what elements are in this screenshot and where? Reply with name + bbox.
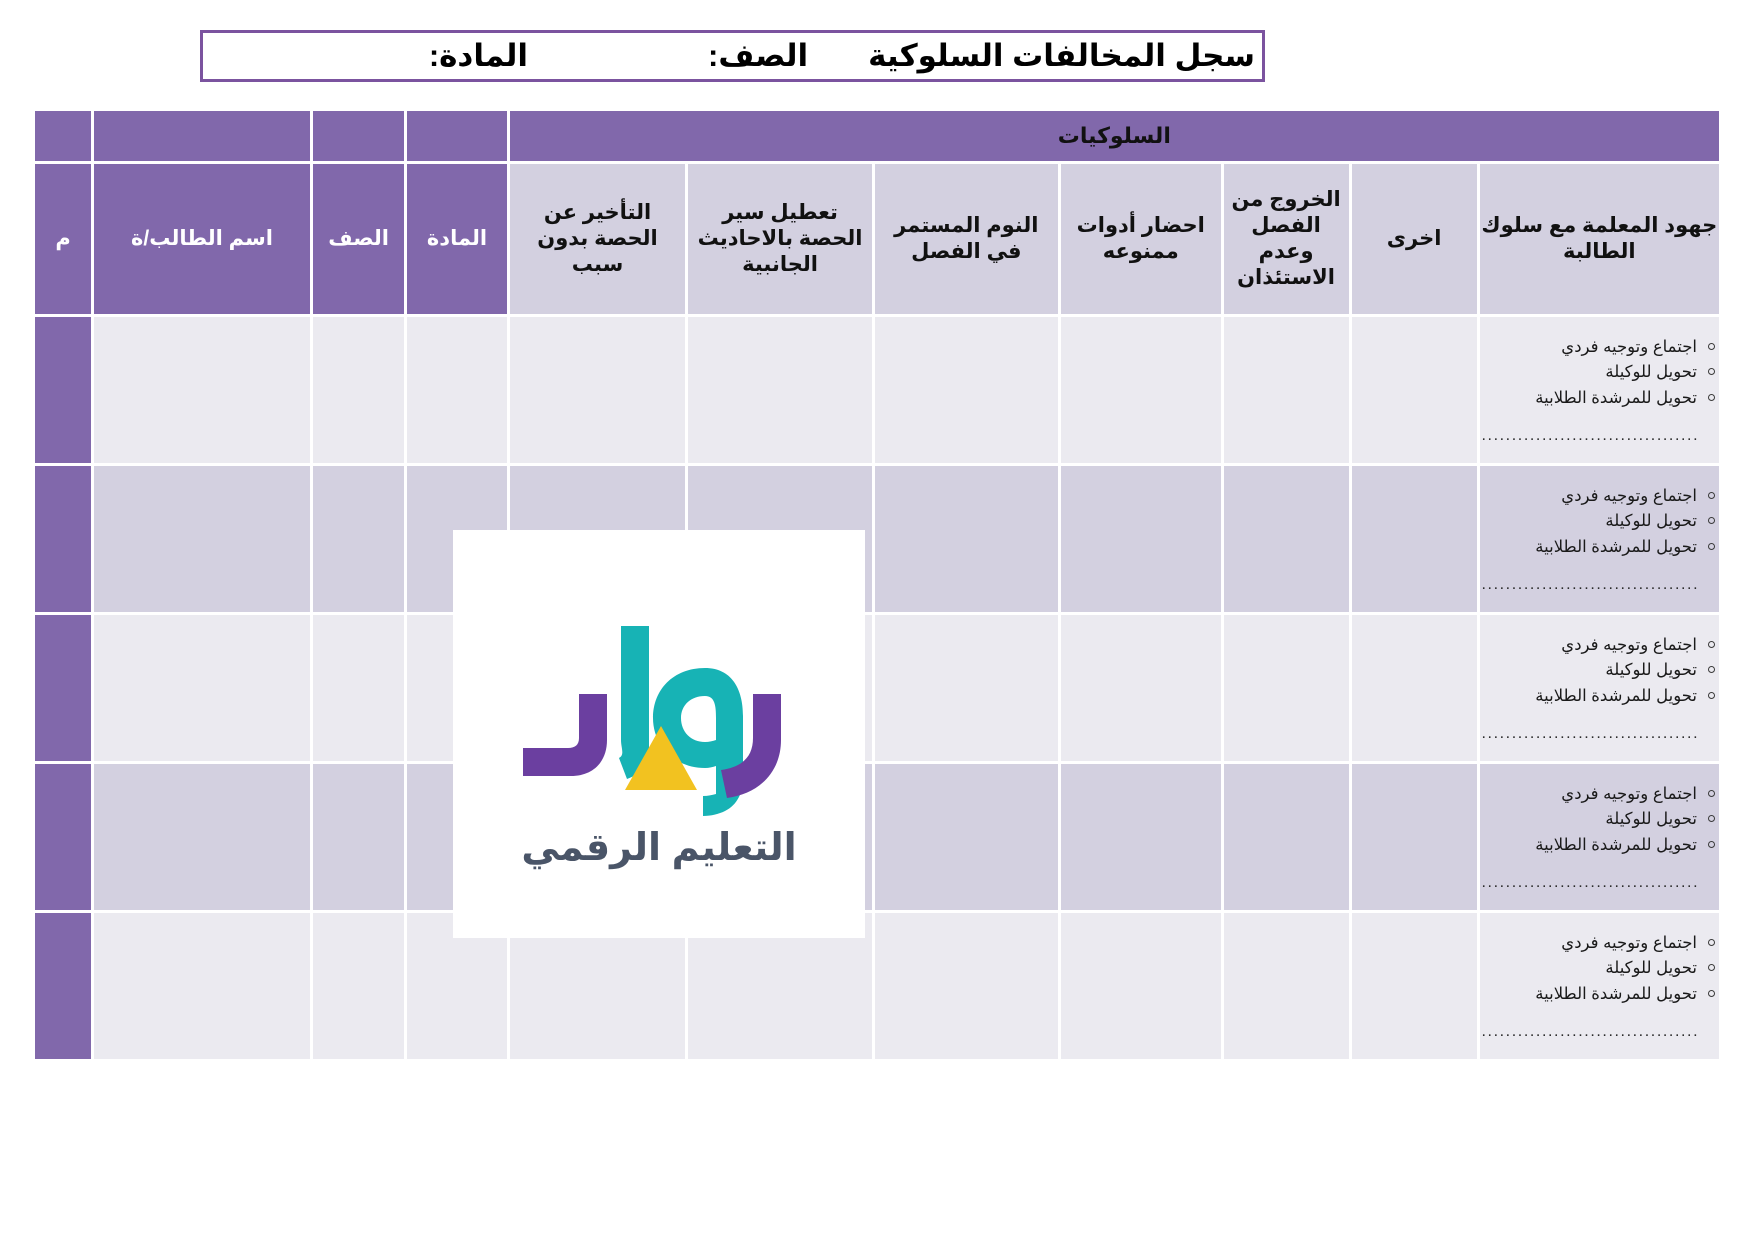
class-cell[interactable] — [313, 615, 405, 761]
student-name-cell[interactable] — [94, 615, 310, 761]
leaving-class-cell[interactable] — [1224, 317, 1349, 463]
teacher-efforts-cell[interactable]: اجتماع وتوجيه فرديتحويل للوكيلةتحويل للم… — [1480, 913, 1719, 1059]
col-header-other: اخرى — [1352, 164, 1477, 314]
col-header-leaving-class: الخروج من الفصل وعدم الاستئذان — [1224, 164, 1349, 314]
col-header-student-name: اسم الطالب/ة — [94, 164, 310, 314]
class-cell[interactable] — [313, 317, 405, 463]
effort-option-item[interactable]: تحويل للوكيلة — [1480, 509, 1719, 534]
rowad-logo-watermark: التعليم الرقمي — [453, 530, 865, 938]
effort-blank-line[interactable]: .................................... — [1480, 427, 1719, 445]
effort-option-item[interactable]: تحويل للوكيلة — [1480, 360, 1719, 385]
group-header-spacer-class — [313, 111, 405, 161]
effort-option-item[interactable]: اجتماع وتوجيه فردي — [1480, 484, 1719, 509]
row-number-cell[interactable] — [35, 764, 91, 910]
effort-option-item[interactable]: اجتماع وتوجيه فردي — [1480, 633, 1719, 658]
subject-cell[interactable] — [407, 317, 506, 463]
effort-option-item[interactable]: تحويل للمرشدة الطلابية — [1480, 535, 1719, 560]
table-header-row: جهود المعلمة مع سلوك الطالبة اخرى الخروج… — [35, 164, 1719, 314]
table-row: اجتماع وتوجيه فرديتحويل للوكيلةتحويل للم… — [35, 317, 1719, 463]
forbidden-tools-cell[interactable] — [1061, 764, 1221, 910]
effort-blank-line[interactable]: .................................... — [1480, 1023, 1719, 1041]
rowad-wordmark-icon — [509, 598, 809, 818]
sleeping-cell[interactable] — [875, 764, 1058, 910]
effort-option-item[interactable]: تحويل للمرشدة الطلابية — [1480, 684, 1719, 709]
row-number-cell[interactable] — [35, 913, 91, 1059]
row-number-cell[interactable] — [35, 615, 91, 761]
effort-option-list: اجتماع وتوجيه فرديتحويل للوكيلةتحويل للم… — [1480, 931, 1719, 1006]
effort-option-item[interactable]: تحويل للمرشدة الطلابية — [1480, 982, 1719, 1007]
forbidden-tools-cell[interactable] — [1061, 466, 1221, 612]
leaving-class-cell[interactable] — [1224, 466, 1349, 612]
col-header-disrupting-lesson: تعطيل سير الحصة بالاحاديث الجانبية — [688, 164, 871, 314]
col-header-lateness: التأخير عن الحصة بدون سبب — [510, 164, 686, 314]
group-header-spacer-name — [94, 111, 310, 161]
class-cell[interactable] — [313, 913, 405, 1059]
disrupting-cell[interactable] — [688, 317, 871, 463]
row-number-cell[interactable] — [35, 466, 91, 612]
group-header-spacer-subject — [407, 111, 506, 161]
sleeping-cell[interactable] — [875, 317, 1058, 463]
leaving-class-cell[interactable] — [1224, 615, 1349, 761]
class-field-label: الصف: — [528, 38, 808, 74]
table-group-header-row: السلوكيات — [35, 111, 1719, 161]
effort-option-item[interactable]: تحويل للوكيلة — [1480, 807, 1719, 832]
teacher-efforts-cell[interactable]: اجتماع وتوجيه فرديتحويل للوكيلةتحويل للم… — [1480, 317, 1719, 463]
document-title-bar: سجل المخالفات السلوكية الصف: المادة: — [480, 30, 1265, 82]
student-name-cell[interactable] — [94, 764, 310, 910]
table-row: اجتماع وتوجيه فرديتحويل للوكيلةتحويل للم… — [35, 764, 1719, 910]
logo-subtitle: التعليم الرقمي — [453, 825, 865, 870]
page-title: سجل المخالفات السلوكية — [808, 38, 1255, 74]
col-header-teacher-efforts: جهود المعلمة مع سلوك الطالبة — [1480, 164, 1719, 314]
student-name-cell[interactable] — [94, 466, 310, 612]
group-header-behaviors: السلوكيات — [510, 111, 1719, 161]
effort-option-item[interactable]: تحويل للمرشدة الطلابية — [1480, 386, 1719, 411]
title-row: سجل المخالفات السلوكية الصف: المادة: — [429, 32, 1255, 80]
row-number-cell[interactable] — [35, 317, 91, 463]
lateness-cell[interactable] — [510, 317, 686, 463]
effort-option-list: اجتماع وتوجيه فرديتحويل للوكيلةتحويل للم… — [1480, 484, 1719, 559]
effort-blank-line[interactable]: .................................... — [1480, 874, 1719, 892]
col-header-number: م — [35, 164, 91, 314]
effort-option-item[interactable]: تحويل للوكيلة — [1480, 658, 1719, 683]
effort-option-item[interactable]: اجتماع وتوجيه فردي — [1480, 931, 1719, 956]
leaving-class-cell[interactable] — [1224, 764, 1349, 910]
col-header-sleeping: النوم المستمر في الفصل — [875, 164, 1058, 314]
other-cell[interactable] — [1352, 317, 1477, 463]
student-name-cell[interactable] — [94, 317, 310, 463]
sleeping-cell[interactable] — [875, 466, 1058, 612]
effort-option-list: اجتماع وتوجيه فرديتحويل للوكيلةتحويل للم… — [1480, 633, 1719, 708]
behavior-violations-table: السلوكيات جهود المعلمة مع سلوك الطالبة ا… — [32, 108, 1722, 1062]
effort-option-item[interactable]: تحويل للوكيلة — [1480, 956, 1719, 981]
forbidden-tools-cell[interactable] — [1061, 615, 1221, 761]
table-row: اجتماع وتوجيه فرديتحويل للوكيلةتحويل للم… — [35, 913, 1719, 1059]
effort-option-item[interactable]: تحويل للمرشدة الطلابية — [1480, 833, 1719, 858]
other-cell[interactable] — [1352, 913, 1477, 1059]
sleeping-cell[interactable] — [875, 913, 1058, 1059]
sleeping-cell[interactable] — [875, 615, 1058, 761]
effort-blank-line[interactable]: .................................... — [1480, 725, 1719, 743]
table-row: اجتماع وتوجيه فرديتحويل للوكيلةتحويل للم… — [35, 615, 1719, 761]
teacher-efforts-cell[interactable]: اجتماع وتوجيه فرديتحويل للوكيلةتحويل للم… — [1480, 615, 1719, 761]
forbidden-tools-cell[interactable] — [1061, 317, 1221, 463]
class-cell[interactable] — [313, 466, 405, 612]
table-row: اجتماع وتوجيه فرديتحويل للوكيلةتحويل للم… — [35, 466, 1719, 612]
table-body: اجتماع وتوجيه فرديتحويل للوكيلةتحويل للم… — [35, 317, 1719, 1059]
col-header-subject: المادة — [407, 164, 506, 314]
teacher-efforts-cell[interactable]: اجتماع وتوجيه فرديتحويل للوكيلةتحويل للم… — [1480, 764, 1719, 910]
effort-option-item[interactable]: اجتماع وتوجيه فردي — [1480, 335, 1719, 360]
effort-option-list: اجتماع وتوجيه فرديتحويل للوكيلةتحويل للم… — [1480, 782, 1719, 857]
other-cell[interactable] — [1352, 615, 1477, 761]
class-cell[interactable] — [313, 764, 405, 910]
subject-field-label: المادة: — [429, 38, 528, 74]
other-cell[interactable] — [1352, 764, 1477, 910]
effort-blank-line[interactable]: .................................... — [1480, 576, 1719, 594]
student-name-cell[interactable] — [94, 913, 310, 1059]
forbidden-tools-cell[interactable] — [1061, 913, 1221, 1059]
other-cell[interactable] — [1352, 466, 1477, 612]
teacher-efforts-cell[interactable]: اجتماع وتوجيه فرديتحويل للوكيلةتحويل للم… — [1480, 466, 1719, 612]
effort-option-item[interactable]: اجتماع وتوجيه فردي — [1480, 782, 1719, 807]
col-header-forbidden-tools: احضار أدوات ممنوعه — [1061, 164, 1221, 314]
group-header-spacer-num — [35, 111, 91, 161]
effort-option-list: اجتماع وتوجيه فرديتحويل للوكيلةتحويل للم… — [1480, 335, 1719, 410]
leaving-class-cell[interactable] — [1224, 913, 1349, 1059]
col-header-class: الصف — [313, 164, 405, 314]
